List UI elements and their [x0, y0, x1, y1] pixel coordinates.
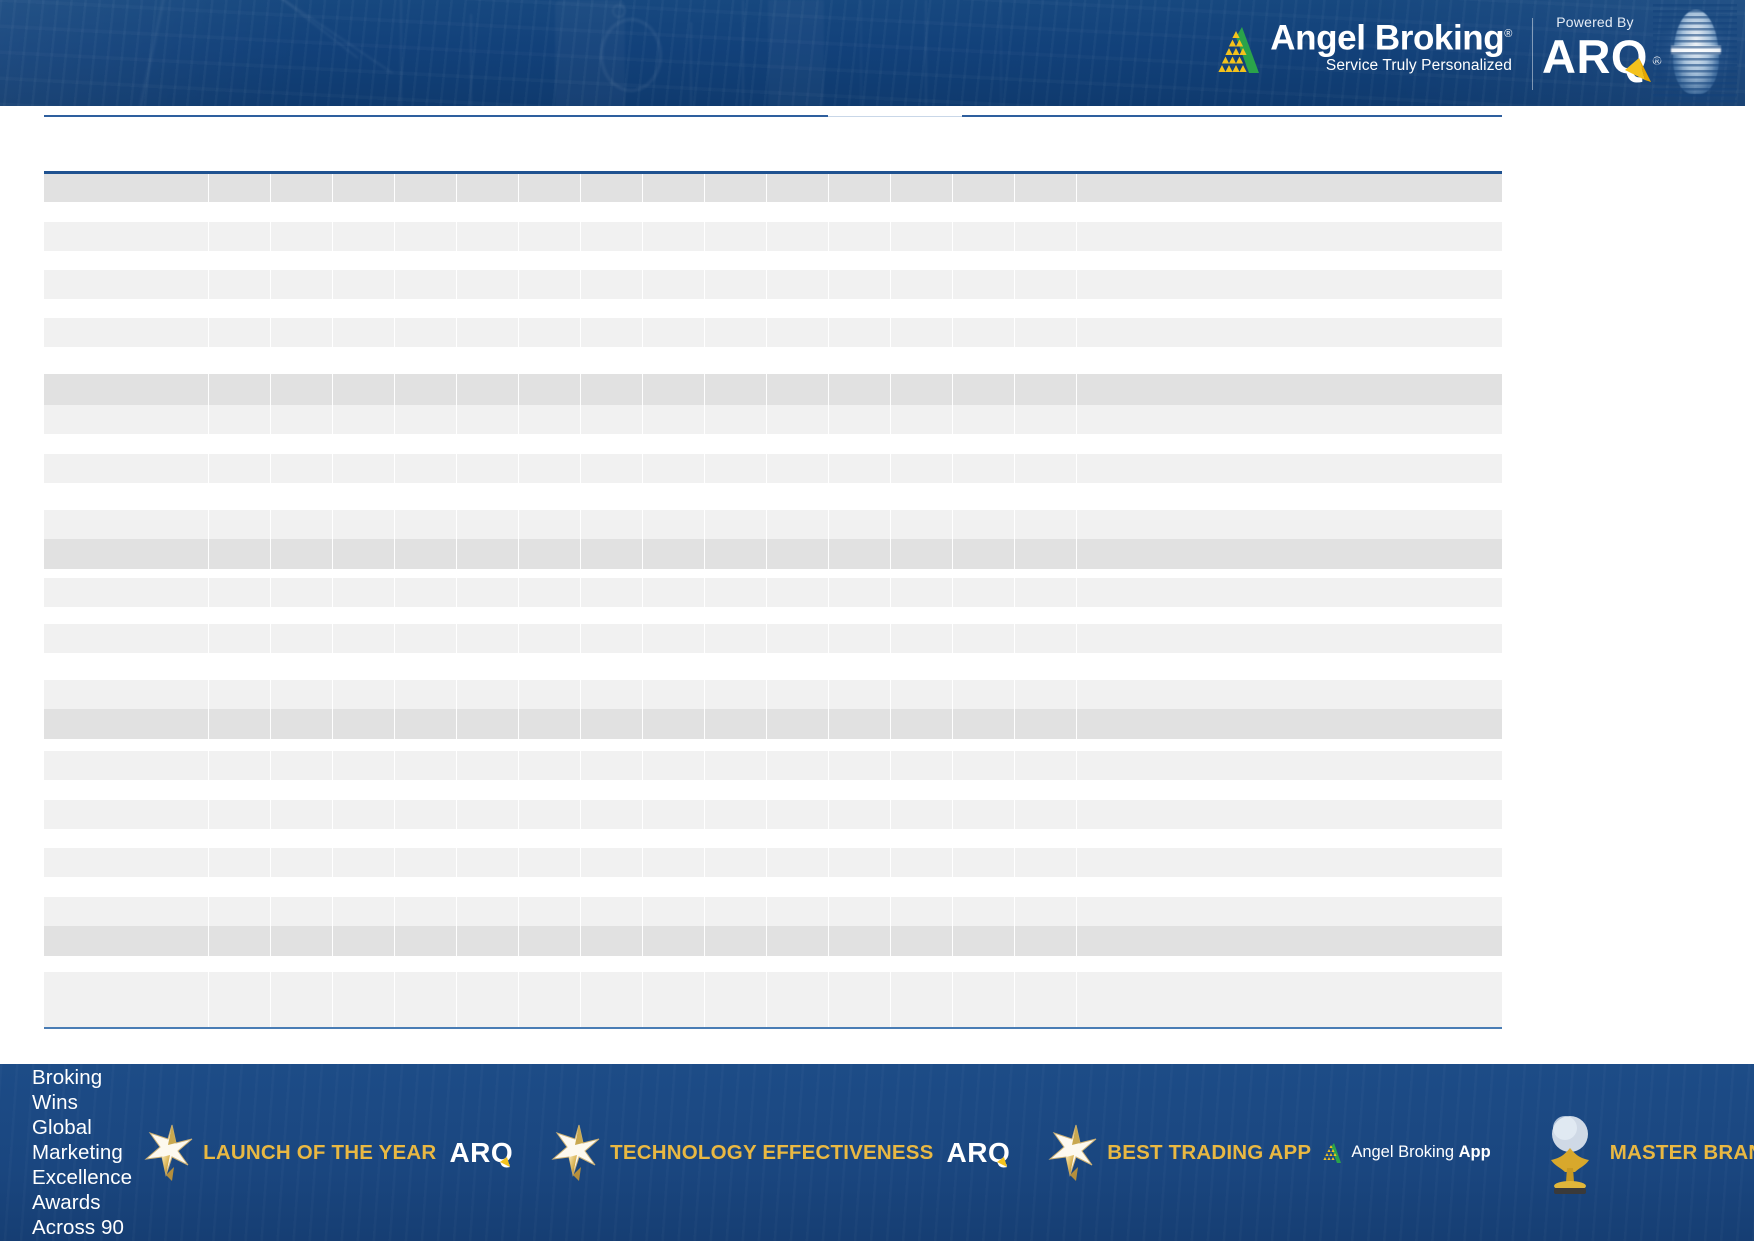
table-cell: [829, 539, 891, 569]
table-cell: [1077, 709, 1472, 739]
trophy-icon: [1539, 1110, 1601, 1196]
table-cell: [519, 1001, 581, 1027]
table-cell: [581, 1001, 643, 1027]
table-cell: [705, 1001, 767, 1027]
table-cell: [767, 624, 829, 653]
award-badge: BEST TRADING APP Angel Broking App: [1046, 1123, 1494, 1183]
table-cell: [457, 539, 519, 569]
table-cell: [829, 318, 891, 347]
table-cell: [953, 709, 1015, 739]
table-cell: [581, 897, 643, 926]
table-cell: [44, 539, 209, 569]
table-cell: [705, 897, 767, 926]
star-icon: [549, 1123, 601, 1183]
table-cell: [519, 174, 581, 202]
table-cell: [767, 972, 829, 1001]
table-row: [44, 405, 1502, 434]
table-cell: [829, 897, 891, 926]
table-cell: [209, 751, 271, 780]
table-cell: [44, 578, 209, 607]
table-cell: [333, 374, 395, 405]
table-cell: [953, 454, 1015, 483]
table-cell: [705, 848, 767, 877]
table-cell: [395, 578, 457, 607]
table-cell: [519, 454, 581, 483]
table-row: [44, 680, 1502, 709]
table-row: [44, 897, 1502, 926]
table-cell: [271, 680, 333, 709]
award-badge: MASTER BRAND 2016 Angel Broking: [1539, 1110, 1754, 1196]
table-row: [44, 374, 1502, 405]
table-cell: [953, 222, 1015, 251]
arq-arrow-icon: [499, 1155, 515, 1169]
table-cell: [581, 800, 643, 829]
table-cell: [1077, 510, 1472, 539]
table-cell: [1015, 709, 1077, 739]
table-cell: [457, 222, 519, 251]
table-cell: [1077, 454, 1472, 483]
table-cell: [44, 1001, 209, 1027]
table-cell: [395, 374, 457, 405]
table-cell: [1015, 318, 1077, 347]
table-row: [44, 578, 1502, 607]
table-cell: [643, 800, 705, 829]
table-cell: [1077, 897, 1472, 926]
table-cell: [209, 680, 271, 709]
table-cell: [333, 680, 395, 709]
table-cell: [891, 680, 953, 709]
table-cell: [1077, 174, 1472, 202]
table-bottom-rule: [44, 1027, 1502, 1029]
table-cell: [581, 174, 643, 202]
table-cell: [767, 174, 829, 202]
award-subtitle: Angel Broking App: [1351, 1143, 1490, 1162]
logo-divider: [1532, 18, 1533, 90]
table-cell: [395, 405, 457, 434]
table-cell: [829, 405, 891, 434]
table-cell: [767, 680, 829, 709]
table-cell: [891, 222, 953, 251]
data-table: [44, 106, 1502, 1064]
table-cell: [519, 539, 581, 569]
table-cell: [209, 897, 271, 926]
table-cell: [767, 751, 829, 780]
table-cell: [44, 680, 209, 709]
table-cell: [209, 222, 271, 251]
brand-name: Angel Broking®: [1270, 16, 1512, 57]
table-cell: [1077, 222, 1472, 251]
table-row: [44, 848, 1502, 877]
table-cell: [767, 709, 829, 739]
table-cell: [271, 624, 333, 653]
table-cell: [519, 510, 581, 539]
table-cell: [953, 578, 1015, 607]
table-cell: [271, 539, 333, 569]
table-cell: [209, 405, 271, 434]
table-cell: [705, 222, 767, 251]
table-cell: [519, 926, 581, 956]
table-cell: [1077, 848, 1472, 877]
table-cell: [767, 897, 829, 926]
footer-headline: Angel Broking Wins Global Marketing Exce…: [0, 1064, 132, 1241]
table-cell: [44, 318, 209, 347]
table-row: [44, 270, 1502, 299]
table-cell: [44, 174, 209, 202]
table-cell: [457, 510, 519, 539]
table-cell: [581, 624, 643, 653]
table-cell: [953, 539, 1015, 569]
star-icon: [142, 1123, 194, 1183]
table-cell: [891, 454, 953, 483]
table-cell: [1077, 972, 1472, 1001]
table-cell: [891, 800, 953, 829]
angel-broking-triangle-icon: [1212, 25, 1260, 75]
table-cell: [395, 680, 457, 709]
award-title: MASTER BRAND 2016: [1610, 1141, 1754, 1165]
table-cell: [581, 578, 643, 607]
table-cell: [767, 539, 829, 569]
table-row: [44, 174, 1502, 202]
table-cell: [643, 510, 705, 539]
table-cell: [829, 848, 891, 877]
table-row: [44, 709, 1502, 739]
table-cell: [271, 848, 333, 877]
table-cell: [581, 405, 643, 434]
table-cell: [1015, 848, 1077, 877]
table-cell: [767, 800, 829, 829]
table-cell: [271, 972, 333, 1001]
table-cell: [643, 680, 705, 709]
table-cell: [44, 270, 209, 299]
arq-arrow-icon: [1623, 54, 1657, 84]
table-cell: [271, 578, 333, 607]
table-cell: [581, 680, 643, 709]
table-cell: [395, 624, 457, 653]
table-cell: [891, 926, 953, 956]
table-cell: [271, 897, 333, 926]
table-cell: [705, 454, 767, 483]
table-cell: [44, 624, 209, 653]
table-cell: [209, 270, 271, 299]
table-cell: [333, 510, 395, 539]
table-cell: [953, 680, 1015, 709]
table-cell: [891, 510, 953, 539]
table-cell: [767, 926, 829, 956]
table-cell: [271, 510, 333, 539]
table-cell: [1077, 624, 1472, 653]
table-cell: [271, 270, 333, 299]
table-cell: [767, 578, 829, 607]
table-cell: [395, 709, 457, 739]
table-cell: [581, 270, 643, 299]
table-cell: [271, 751, 333, 780]
table-cell: [457, 405, 519, 434]
table-cell: [519, 800, 581, 829]
arq-wordmark: ARQ: [947, 1137, 1011, 1169]
table-cell: [829, 972, 891, 1001]
table-cell: [44, 510, 209, 539]
table-cell: [953, 405, 1015, 434]
table-cell: [705, 578, 767, 607]
table-cell: [891, 709, 953, 739]
star-icon: [1046, 1123, 1098, 1183]
table-cell: [705, 318, 767, 347]
table-cell: [953, 318, 1015, 347]
award-badge: TECHNOLOGY EFFECTIVENESSARQ: [549, 1123, 1014, 1183]
table-cell: [333, 848, 395, 877]
table-cell: [44, 454, 209, 483]
powered-by-label: Powered By: [1537, 14, 1653, 30]
awards-footer-bar: Angel Broking Wins Global Marketing Exce…: [0, 1064, 1754, 1241]
table-cell: [457, 374, 519, 405]
table-cell: [953, 270, 1015, 299]
table-cell: [953, 926, 1015, 956]
arq-logo: Powered By ARQ®: [1537, 14, 1653, 82]
table-cell: [333, 897, 395, 926]
table-cell: [1015, 972, 1077, 1001]
table-cell: [643, 270, 705, 299]
table-cell: [767, 848, 829, 877]
angel-broking-logo: Angel Broking® Service Truly Personalize…: [1212, 16, 1512, 75]
table-cell: [891, 318, 953, 347]
table-cell: [333, 454, 395, 483]
table-cell: [519, 897, 581, 926]
table-cell: [643, 539, 705, 569]
table-cell: [829, 222, 891, 251]
table-cell: [44, 405, 209, 434]
table-cell: [1015, 174, 1077, 202]
table-cell: [643, 926, 705, 956]
table-row: [44, 972, 1502, 1001]
table-cell: [581, 848, 643, 877]
table-cell: [891, 270, 953, 299]
table-cell: [395, 510, 457, 539]
table-row: [44, 539, 1502, 569]
table-cell: [271, 174, 333, 202]
table-cell: [705, 624, 767, 653]
table-cell: [395, 222, 457, 251]
table-cell: [829, 510, 891, 539]
table-cell: [333, 751, 395, 780]
table-cell: [1015, 405, 1077, 434]
table-cell: [395, 174, 457, 202]
table-row: [44, 800, 1502, 829]
table-cell: [1015, 800, 1077, 829]
table-cell: [643, 318, 705, 347]
table-cell: [1015, 222, 1077, 251]
table-cell: [1015, 374, 1077, 405]
table-row: [44, 1001, 1502, 1027]
table-cell: [581, 709, 643, 739]
table-cell: [457, 800, 519, 829]
table-cell: [643, 624, 705, 653]
table-cell: [395, 800, 457, 829]
table-cell: [705, 680, 767, 709]
table-cell: [395, 454, 457, 483]
table-cell: [395, 1001, 457, 1027]
table-cell: [705, 926, 767, 956]
table-cell: [44, 751, 209, 780]
table-cell: [891, 405, 953, 434]
table-cell: [891, 539, 953, 569]
table-cell: [44, 374, 209, 405]
table-cell: [457, 318, 519, 347]
table-cell: [1077, 926, 1472, 956]
table-cell: [395, 751, 457, 780]
table-cell: [953, 972, 1015, 1001]
star-icon: [142, 1123, 194, 1183]
table-cell: [891, 1001, 953, 1027]
header-banner: Angel Broking® Service Truly Personalize…: [0, 0, 1745, 106]
table-cell: [457, 624, 519, 653]
table-cell: [395, 972, 457, 1001]
table-cell: [457, 174, 519, 202]
table-cell: [1077, 800, 1472, 829]
table-cell: [953, 174, 1015, 202]
table-cell: [209, 709, 271, 739]
table-cell: [767, 405, 829, 434]
trophy-icon: [1539, 1110, 1601, 1196]
table-cell: [829, 709, 891, 739]
table-cell: [829, 751, 891, 780]
table-cell: [643, 454, 705, 483]
table-cell: [457, 848, 519, 877]
table-cell: [581, 374, 643, 405]
table-cell: [457, 926, 519, 956]
table-cell: [395, 539, 457, 569]
table-cell: [271, 454, 333, 483]
table-cell: [333, 539, 395, 569]
table-cell: [767, 454, 829, 483]
table-cell: [271, 709, 333, 739]
table-cell: [209, 174, 271, 202]
table-cell: [1015, 897, 1077, 926]
table-cell: [457, 897, 519, 926]
table-cell: [395, 897, 457, 926]
table-cell: [271, 800, 333, 829]
table-cell: [829, 926, 891, 956]
table-cell: [829, 374, 891, 405]
table-cell: [209, 318, 271, 347]
table-cell: [953, 848, 1015, 877]
table-cell: [705, 270, 767, 299]
award-title: BEST TRADING APP: [1107, 1141, 1311, 1165]
table-cell: [767, 1001, 829, 1027]
table-cell: [1077, 751, 1472, 780]
table-cell: [519, 848, 581, 877]
table-cell: [519, 624, 581, 653]
table-cell: [829, 174, 891, 202]
table-cell: [829, 270, 891, 299]
table-cell: [891, 972, 953, 1001]
table-cell: [1015, 1001, 1077, 1027]
award-title: LAUNCH OF THE YEAR: [203, 1141, 436, 1165]
table-cell: [519, 374, 581, 405]
arq-arrow-icon: [996, 1155, 1012, 1169]
table-cell: [271, 926, 333, 956]
table-cell: [44, 926, 209, 956]
slide-page: Angel Broking® Service Truly Personalize…: [0, 0, 1754, 1241]
table-cell: [457, 751, 519, 780]
table-cell: [581, 222, 643, 251]
slide-content: [0, 106, 1754, 1064]
table-cell: [395, 270, 457, 299]
table-cell: [333, 972, 395, 1001]
table-cell: [829, 578, 891, 607]
table-cell: [457, 578, 519, 607]
table-cell: [891, 578, 953, 607]
table-cell: [829, 680, 891, 709]
table-cell: [1015, 578, 1077, 607]
table-cell: [767, 510, 829, 539]
footer-headline-line1: Angel Broking Wins Global Marketing: [32, 1064, 132, 1165]
table-row: [44, 318, 1502, 347]
table-cell: [829, 624, 891, 653]
table-cell: [271, 1001, 333, 1027]
table-cell: [767, 374, 829, 405]
table-cell: [333, 405, 395, 434]
table-cell: [457, 1001, 519, 1027]
table-cell: [519, 680, 581, 709]
table-row: [44, 222, 1502, 251]
table-cell: [519, 972, 581, 1001]
table-cell: [953, 624, 1015, 653]
table-cell: [271, 222, 333, 251]
table-cell: [209, 510, 271, 539]
brand-tagline: Service Truly Personalized: [1270, 57, 1512, 75]
table-cell: [457, 709, 519, 739]
table-cell: [953, 751, 1015, 780]
table-cell: [705, 709, 767, 739]
table-cell: [519, 270, 581, 299]
table-cell: [457, 680, 519, 709]
table-cell: [44, 897, 209, 926]
arq-glowing-head-icon: [1653, 4, 1737, 104]
table-cell: [457, 972, 519, 1001]
table-cell: [333, 174, 395, 202]
table-cell: [333, 318, 395, 347]
table-cell: [1077, 270, 1472, 299]
table-cell: [953, 510, 1015, 539]
table-cell: [643, 751, 705, 780]
table-cell: [643, 578, 705, 607]
table-cell: [581, 972, 643, 1001]
table-cell: [643, 848, 705, 877]
header-right-edge: [1745, 0, 1754, 106]
table-cell: [457, 270, 519, 299]
table-cell: [767, 270, 829, 299]
table-cell: [44, 800, 209, 829]
table-cell: [1077, 539, 1472, 569]
table-cell: [333, 709, 395, 739]
table-cell: [333, 1001, 395, 1027]
footer-headline-line2: Excellence Awards Across 90 Countries: [32, 1165, 132, 1241]
table-cell: [705, 510, 767, 539]
table-cell: [44, 222, 209, 251]
table-cell: [643, 972, 705, 1001]
table-cell: [891, 624, 953, 653]
table-cell: [1015, 510, 1077, 539]
table-cell: [1077, 680, 1472, 709]
table-row: [44, 510, 1502, 539]
table-cell: [1077, 374, 1472, 405]
table-cell: [705, 972, 767, 1001]
table-cell: [829, 454, 891, 483]
table-cell: [953, 800, 1015, 829]
table-cell: [333, 624, 395, 653]
star-icon: [1046, 1123, 1098, 1183]
table-cell: [953, 374, 1015, 405]
